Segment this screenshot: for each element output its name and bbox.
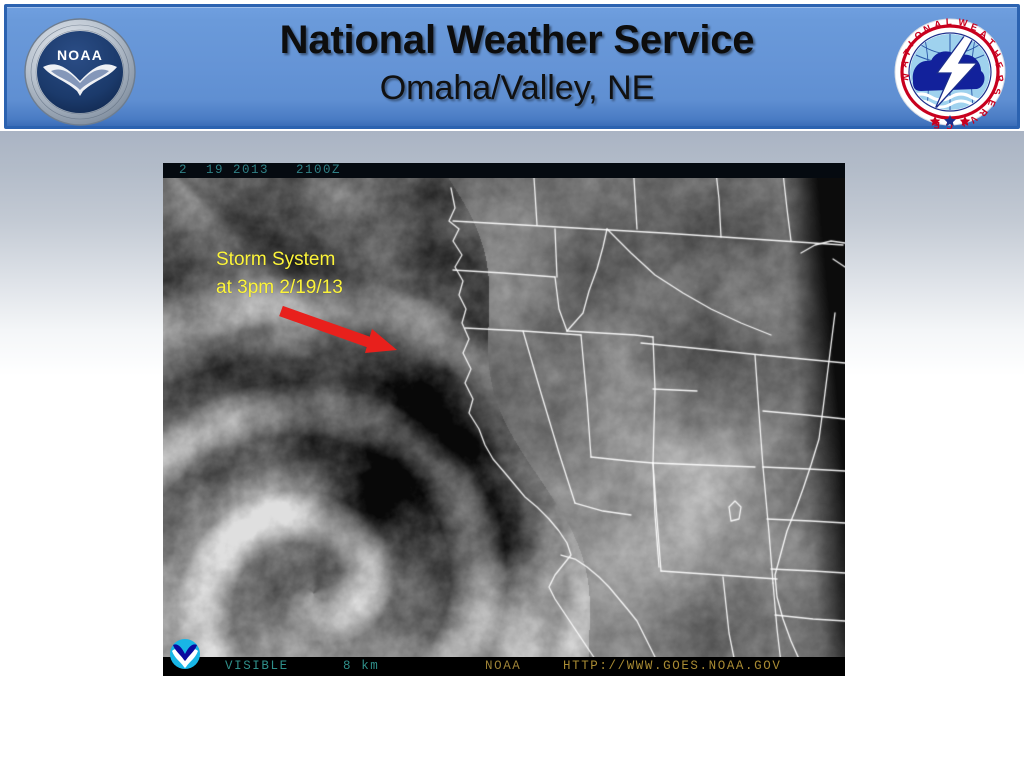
satellite-timestamp: 2 19 2013 2100Z [179, 163, 341, 178]
red-arrow-icon [273, 303, 403, 363]
storm-annotation-line1: Storm System [216, 249, 335, 270]
page-title: National Weather Service [147, 15, 887, 65]
storm-annotation-text: Storm System at 3pm 2/19/13 [216, 246, 343, 302]
noaa-circle-badge-icon [168, 637, 202, 671]
noaa-seal-icon: NOAA [23, 17, 137, 127]
svg-text:NOAA: NOAA [57, 47, 103, 63]
page-subtitle: Omaha/Valley, NE [147, 65, 887, 111]
svg-text:W: W [958, 17, 969, 29]
header-title-group: National Weather Service Omaha/Valley, N… [147, 15, 887, 111]
satellite-agency-label: NOAA [485, 658, 521, 675]
svg-text:L: L [946, 17, 953, 28]
satellite-channel-label: VISIBLE [225, 658, 289, 675]
goes-satellite-image: 2 19 2013 2100Z Storm System at 3pm 2/19… [163, 163, 845, 676]
satellite-resolution-label: 8 km [343, 658, 379, 675]
satellite-imagery-canvas [163, 163, 845, 676]
header-banner: NOAA National Weather Service Omaha/Vall… [4, 4, 1020, 129]
svg-text:S: S [990, 88, 1002, 95]
storm-annotation-line2: at 3pm 2/19/13 [216, 277, 343, 298]
nws-seal-icon: N A T I O N A L W E A T H E R S E [891, 15, 1009, 129]
satellite-url-label: HTTP://WWW.GOES.NOAA.GOV [563, 658, 781, 675]
slide-page: NOAA National Weather Service Omaha/Vall… [0, 0, 1024, 768]
